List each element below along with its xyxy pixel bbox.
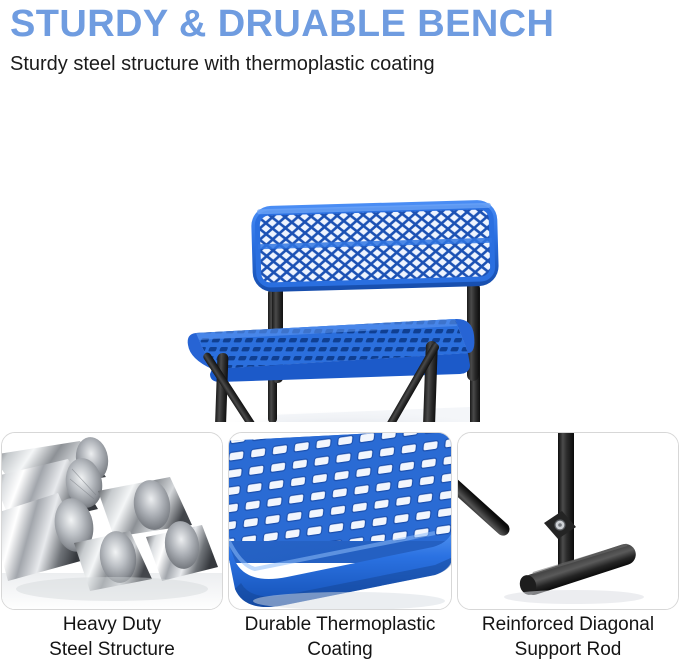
caption-line-1: Heavy Duty bbox=[1, 612, 223, 637]
page-subtitle: Sturdy steel structure with thermoplasti… bbox=[10, 51, 679, 77]
header: STURDY & DRUABLE BENCH Sturdy steel stru… bbox=[0, 0, 679, 77]
diagonal-support-rod-image bbox=[458, 433, 679, 610]
feature-panel-row bbox=[0, 432, 679, 610]
caption-line-2: Coating bbox=[228, 637, 452, 662]
hero-product-image bbox=[0, 77, 679, 422]
caption-line-2: Support Rod bbox=[457, 637, 679, 662]
caption-line-1: Durable Thermoplastic bbox=[228, 612, 452, 637]
stacked-steel-bars-image bbox=[2, 433, 223, 610]
page-title: STURDY & DRUABLE BENCH bbox=[10, 2, 679, 46]
caption-reinforced-diagonal-support-rod: Reinforced Diagonal Support Rod bbox=[457, 612, 679, 670]
panel-heavy-duty-steel-structure[interactable] bbox=[1, 432, 223, 610]
caption-line-1: Reinforced Diagonal bbox=[457, 612, 679, 637]
caption-heavy-duty-steel-structure: Heavy Duty Steel Structure bbox=[1, 612, 223, 670]
caption-durable-thermoplastic-coating: Durable Thermoplastic Coating bbox=[228, 612, 452, 670]
panel-durable-thermoplastic-coating[interactable] bbox=[228, 432, 452, 610]
panel-reinforced-diagonal-support-rod[interactable] bbox=[457, 432, 679, 610]
blue-mesh-seat-corner-image bbox=[229, 433, 452, 610]
feature-caption-row: Heavy Duty Steel Structure Durable Therm… bbox=[0, 612, 679, 670]
bench-illustration bbox=[0, 77, 679, 422]
caption-line-2: Steel Structure bbox=[1, 637, 223, 662]
